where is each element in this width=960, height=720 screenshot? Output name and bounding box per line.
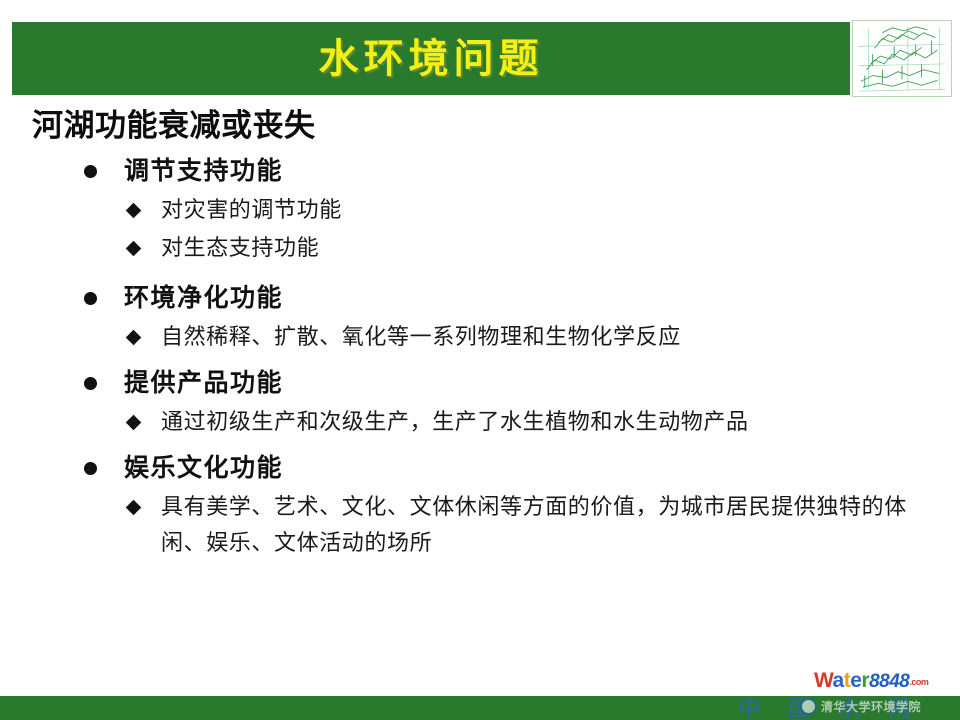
section-item-text: 对生态支持功能 (161, 230, 319, 266)
title-banner: 水环境问题 (12, 22, 850, 95)
university-seal-icon (800, 698, 817, 715)
brand-number: 8848 (869, 671, 909, 692)
section-item: 通过初级生产和次级生产，生产了水生植物和水生动物产品 (0, 404, 960, 440)
section-item: 对灾害的调节功能 (0, 192, 960, 228)
section-heading-2: 环境净化功能 (0, 280, 960, 318)
watermark-org-name: 清华大学环境学院 (821, 698, 921, 715)
spacer (0, 270, 960, 280)
section-heading-3: 提供产品功能 (0, 365, 960, 403)
bullet-diamond-icon (126, 203, 142, 219)
bullet-dot-icon (84, 377, 97, 390)
section-item: 具有美学、艺术、文化、文体休闲等方面的价值，为城市居民提供独特的体闲、娱乐、文体… (0, 489, 960, 560)
section-heading-1: 调节支持功能 (0, 153, 960, 191)
section-item-text: 通过初级生产和次级生产，生产了水生植物和水生动物产品 (161, 404, 749, 440)
section-label: 娱乐文化功能 (124, 450, 283, 488)
page-title: 水环境问题 (319, 39, 544, 79)
section-item-text: 自然稀释、扩散、氧化等一系列物理和生物化学反应 (161, 319, 681, 355)
brand-letter-a: a (833, 669, 844, 692)
slide-content: 河湖功能衰减或丧失 调节支持功能 对灾害的调节功能 对生态支持功能 环境净化功能 (0, 105, 960, 565)
bullet-diamond-icon (126, 241, 142, 257)
section-heading-4: 娱乐文化功能 (0, 450, 960, 488)
watermark-brand-logo: Water8848.com (814, 669, 954, 695)
bullet-diamond-icon (126, 415, 142, 431)
section-item: 对生态支持功能 (0, 230, 960, 266)
bullet-dot-icon (84, 165, 97, 178)
content-heading: 河湖功能衰减或丧失 (32, 105, 960, 147)
section-group: 调节支持功能 对灾害的调节功能 对生态支持功能 (0, 153, 960, 266)
brand-tld: .com (909, 677, 928, 687)
watermark-chinese: 中国水网 清华大学环境学院 (738, 694, 960, 720)
section-group: 提供产品功能 通过初级生产和次级生产，生产了水生植物和水生动物产品 (0, 365, 960, 440)
bullet-dot-icon (84, 292, 97, 305)
section-item-text: 具有美学、艺术、文化、文体休闲等方面的价值，为城市居民提供独特的体闲、娱乐、文体… (161, 489, 931, 560)
bullet-diamond-icon (126, 500, 142, 516)
section-label: 提供产品功能 (124, 365, 283, 403)
brand-letter-w: W (814, 669, 833, 692)
brand-letter-r: r (861, 669, 869, 692)
sketch-illustration-icon (853, 21, 951, 96)
brand-letter-e: e (850, 669, 861, 692)
section-item-text: 对灾害的调节功能 (161, 192, 342, 228)
header-thumbnail-image (852, 20, 952, 97)
slide: 水环境问题 (0, 0, 960, 720)
section-label: 环境净化功能 (124, 280, 283, 318)
watermark-org-badge: 清华大学环境学院 (800, 698, 921, 715)
section-group: 环境净化功能 自然稀释、扩散、氧化等一系列物理和生物化学反应 (0, 280, 960, 355)
bullet-diamond-icon (126, 330, 142, 346)
section-item: 自然稀释、扩散、氧化等一系列物理和生物化学反应 (0, 319, 960, 355)
bullet-dot-icon (84, 462, 97, 475)
section-label: 调节支持功能 (124, 153, 283, 191)
section-group: 娱乐文化功能 具有美学、艺术、文化、文体休闲等方面的价值，为城市居民提供独特的体… (0, 450, 960, 561)
